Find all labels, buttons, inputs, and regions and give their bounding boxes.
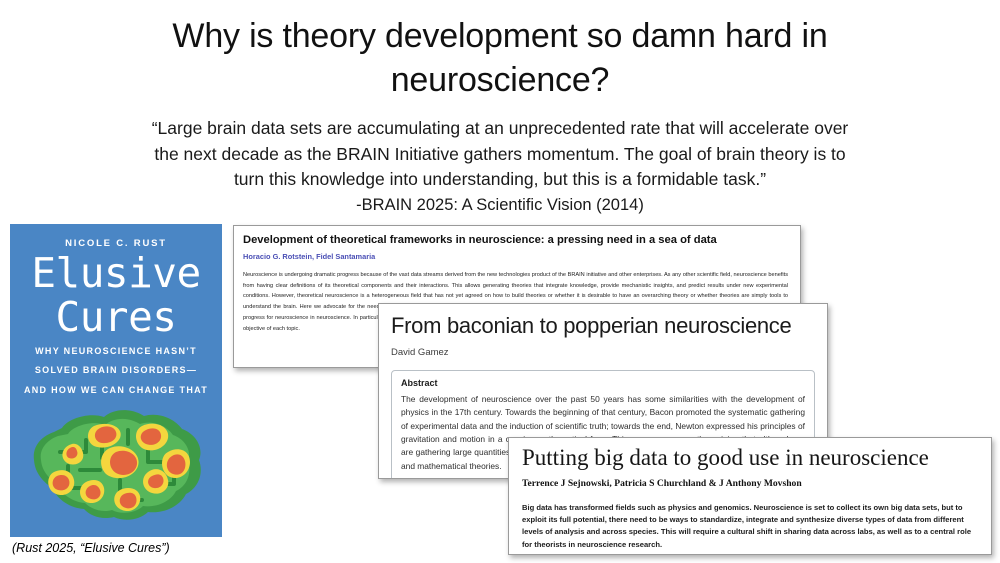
quote-block: “Large brain data sets are accumulating … <box>150 116 850 217</box>
book-subtitle: WHY NEUROSCIENCE HASN’T SOLVED BRAIN DIS… <box>10 342 222 400</box>
paper-cut-brain-maze-illustration <box>24 396 208 526</box>
paper-card-big-data[interactable]: Putting big data to good use in neurosci… <box>508 437 992 555</box>
paper-authors[interactable]: Horacio G. Rotstein, Fidel Santamaria <box>243 252 791 261</box>
book-title-line-2: Cures <box>10 296 222 340</box>
paper-title: From baconian to popperian neuroscience <box>391 314 815 338</box>
quote-text: “Large brain data sets are accumulating … <box>150 116 850 193</box>
paper-title: Development of theoretical frameworks in… <box>243 233 791 247</box>
paper-title: Putting big data to good use in neurosci… <box>522 446 978 471</box>
book-subtitle-line-1: WHY NEUROSCIENCE HASN’T <box>10 342 222 361</box>
book-author-name: NICOLE C. RUST <box>10 238 222 249</box>
abstract-heading: Abstract <box>401 378 805 388</box>
slide-headline: Why is theory development so damn hard i… <box>110 14 890 102</box>
quote-source: -BRAIN 2025: A Scientific Vision (2014) <box>150 194 850 217</box>
paper-authors: Terrence J Sejnowski, Patricia S Churchl… <box>522 478 978 489</box>
slide-canvas: Why is theory development so damn hard i… <box>0 0 1000 563</box>
book-title-line-1: Elusive <box>10 252 222 296</box>
book-cover-figure: NICOLE C. RUST Elusive Cures WHY NEUROSC… <box>10 224 222 537</box>
book-cover-image: NICOLE C. RUST Elusive Cures WHY NEUROSC… <box>10 224 222 537</box>
paper-abstract: Big data has transformed fields such as … <box>522 502 978 551</box>
book-title: Elusive Cures <box>10 252 222 340</box>
book-caption: (Rust 2025, “Elusive Cures”) <box>12 541 170 555</box>
book-subtitle-line-2: SOLVED BRAIN DISORDERS— <box>10 361 222 380</box>
paper-authors: David Gamez <box>391 347 815 358</box>
